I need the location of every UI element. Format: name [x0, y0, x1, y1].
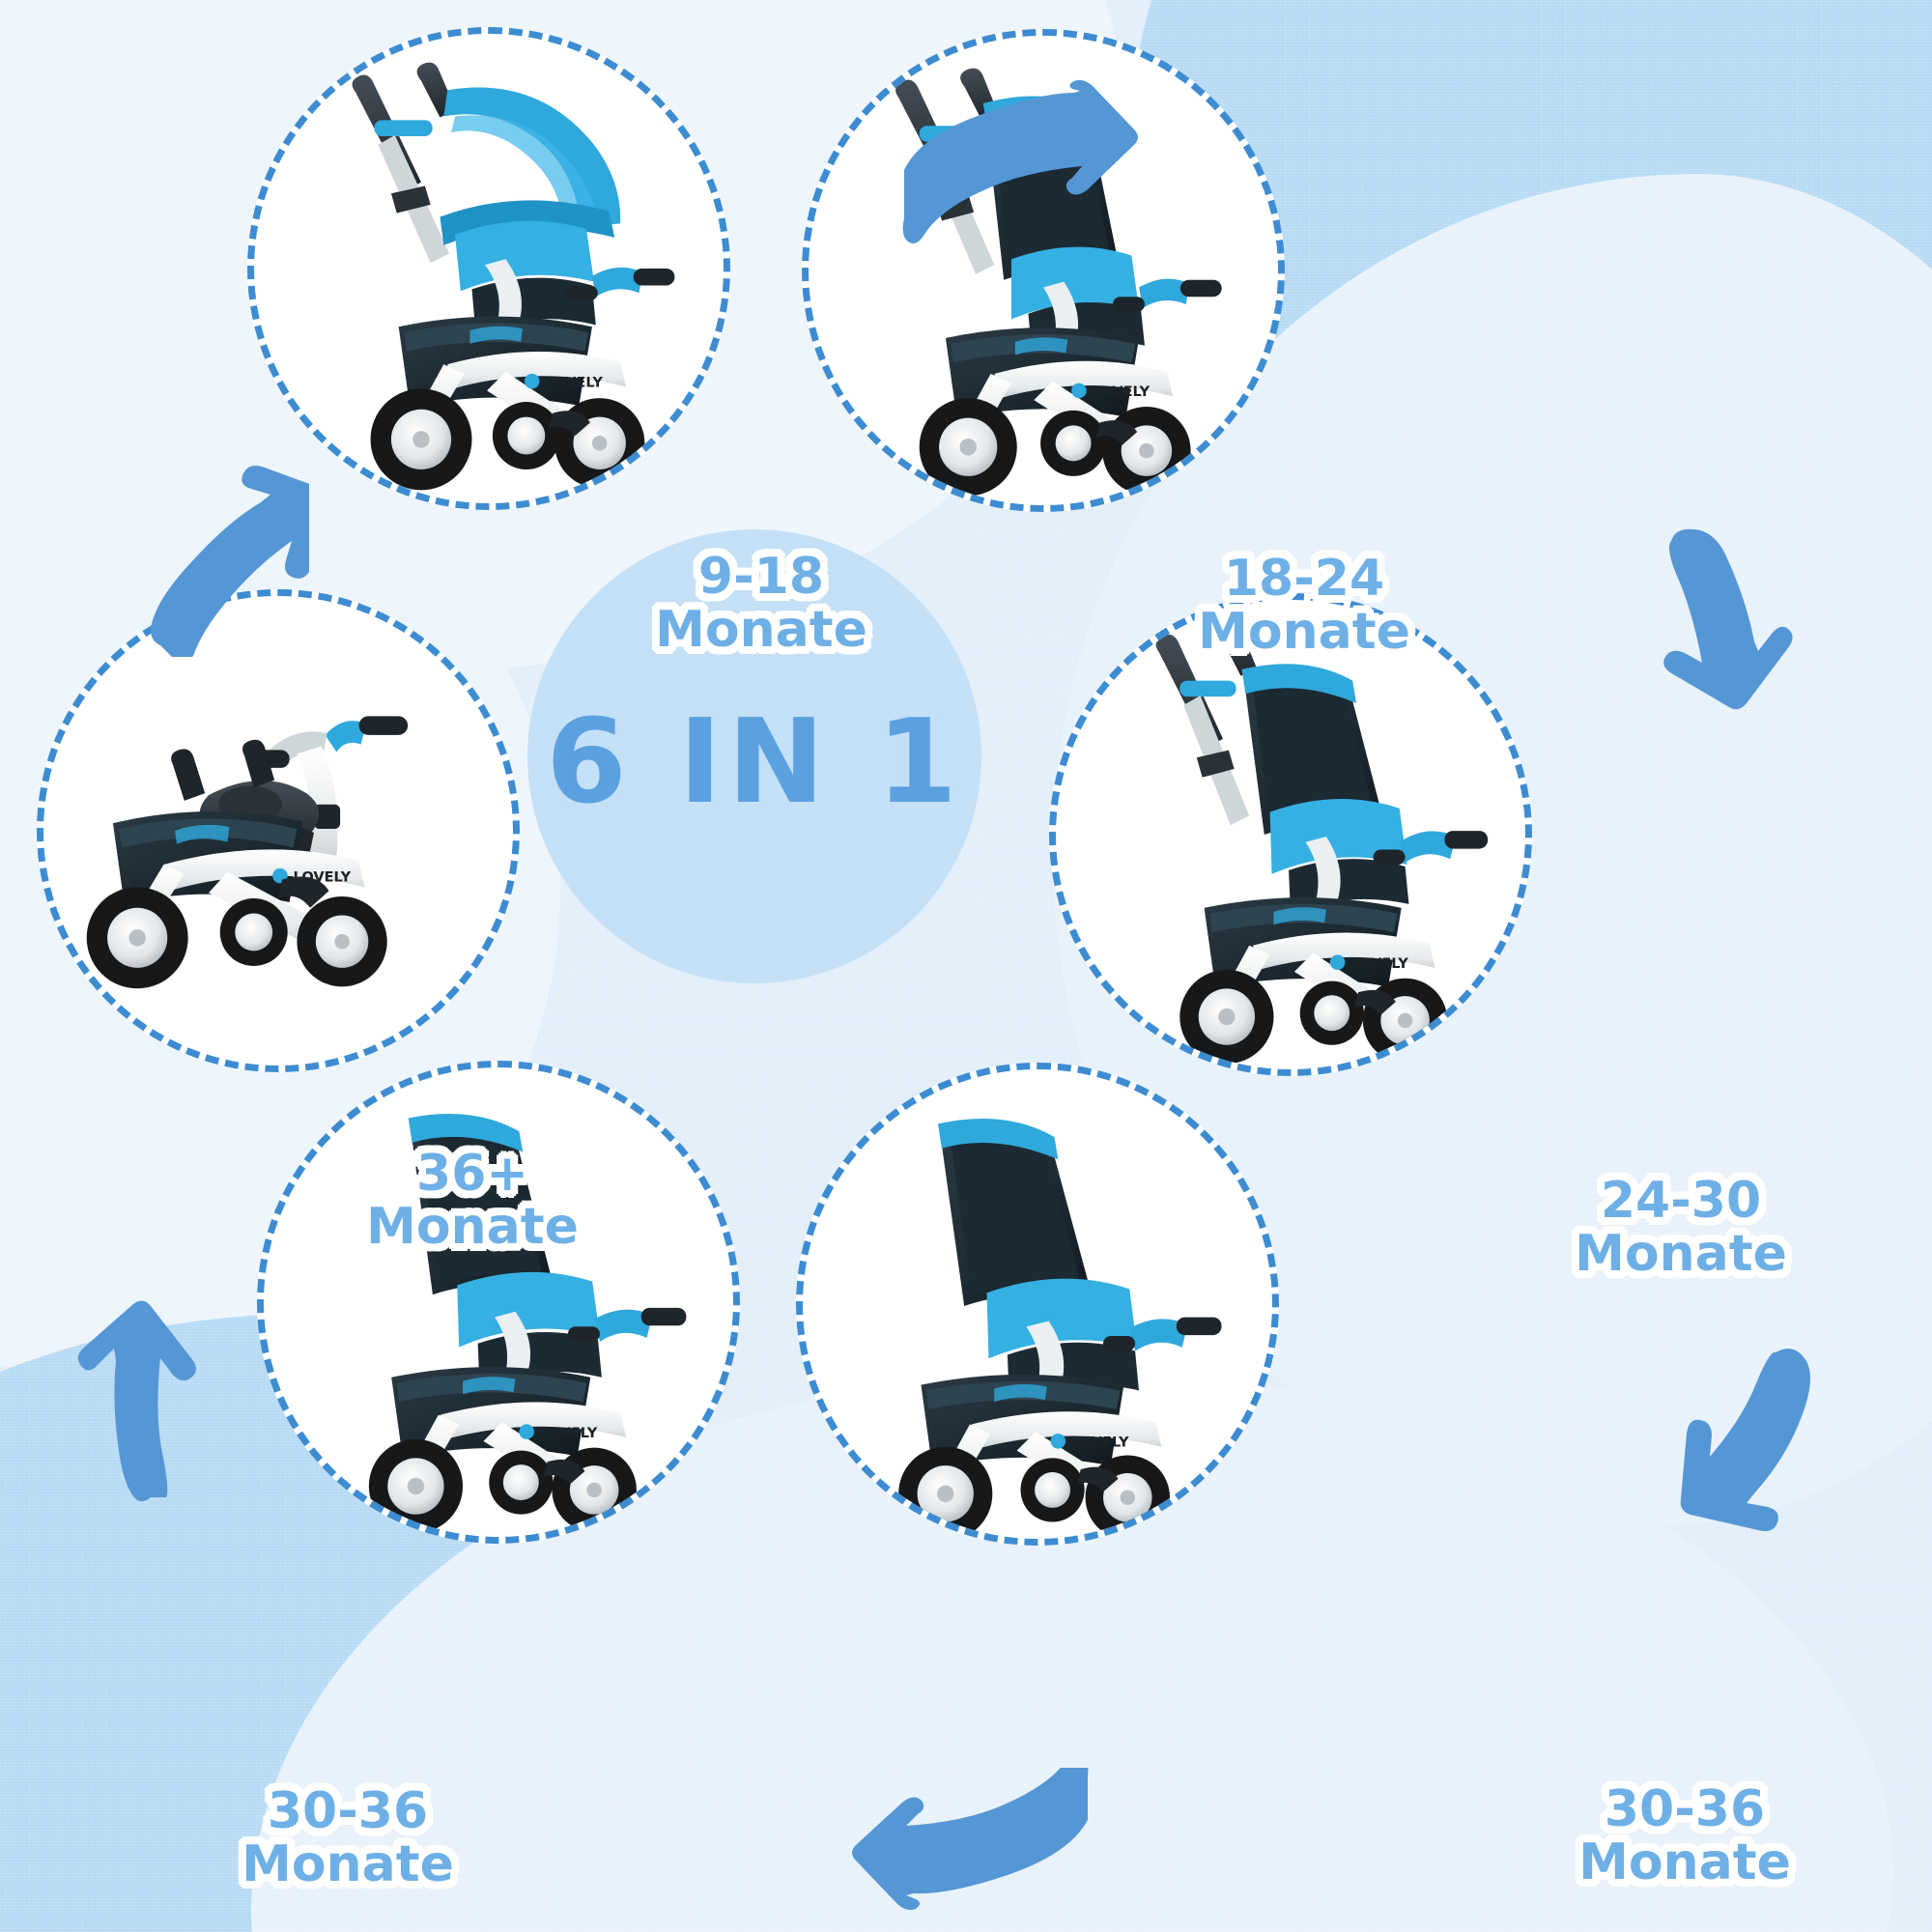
panel-30-36-months-right[interactable]: LOVELY [796, 1063, 1279, 1546]
label-24-30-range: 24-30 [1497, 1175, 1864, 1228]
arrow-down-left-icon [1604, 1343, 1845, 1565]
arrow-up-right-icon [116, 454, 309, 657]
svg-text:LOVELY: LOVELY [540, 1425, 598, 1441]
arrow-right-icon [860, 77, 1140, 261]
panel-36-plus-months[interactable]: LOVELY [37, 589, 520, 1072]
label-9-18-range: 9-18 [607, 551, 916, 604]
panel-30-36-right-photo: LOVELY [803, 1069, 1272, 1539]
label-30-36-months-right: 30-36 Monate [1501, 1783, 1868, 1889]
panel-30-36-months-left[interactable]: LOVELY [257, 1061, 740, 1544]
label-30-36-left-range: 30-36 [164, 1785, 531, 1838]
svg-text:LOVELY: LOVELY [1093, 384, 1151, 400]
label-30-36-right-unit: Monate [1501, 1836, 1868, 1889]
label-36-plus-unit: Monate [313, 1201, 632, 1254]
tricycle-with-backrest-illustration: LOVELY [264, 1067, 733, 1537]
label-30-36-right-range: 30-36 [1501, 1783, 1868, 1836]
label-18-24-unit: Monate [1130, 606, 1478, 659]
svg-text:LOVELY: LOVELY [1071, 1435, 1129, 1451]
panel-30-36-left-photo: LOVELY [264, 1067, 733, 1537]
label-9-18-unit: Monate [607, 604, 916, 657]
label-30-36-left-unit: Monate [164, 1838, 531, 1891]
svg-text:LOVELY: LOVELY [1350, 955, 1408, 972]
center-title: 6 IN 1 [546, 696, 963, 830]
panel-9-18-photo: LOVELY [254, 34, 724, 503]
tricycle-canopy-stroller-illustration: LOVELY [254, 34, 724, 503]
arrow-left-icon [850, 1768, 1130, 1932]
panel-24-30-months[interactable]: LOVELY [1049, 593, 1532, 1076]
tricycle-reclined-pushchair-illustration: LOVELY [1056, 600, 1525, 1069]
label-24-30-unit: Monate [1497, 1228, 1864, 1281]
label-9-18-months: 9-18 Monate [607, 551, 916, 657]
label-18-24-months: 18-24 Monate [1130, 553, 1478, 659]
arrow-down-right-icon [1633, 522, 1874, 744]
panel-9-18-months[interactable]: LOVELY [247, 27, 730, 510]
label-18-24-range: 18-24 [1130, 553, 1478, 606]
tricycle-free-ride-illustration: LOVELY [43, 596, 513, 1065]
panel-24-30-photo: LOVELY [1056, 600, 1525, 1069]
label-30-36-months-left: 30-36 Monate [164, 1785, 531, 1891]
label-36-plus-months: 36+ Monate [313, 1148, 632, 1254]
panel-36-plus-photo: LOVELY [43, 596, 513, 1065]
label-36-plus-range: 36+ [313, 1148, 632, 1201]
arrow-up-icon [75, 1285, 259, 1526]
tricycle-seat-with-backrest-illustration: LOVELY [803, 1069, 1272, 1539]
label-24-30-months: 24-30 Monate [1497, 1175, 1864, 1281]
svg-text:LOVELY: LOVELY [545, 374, 603, 390]
